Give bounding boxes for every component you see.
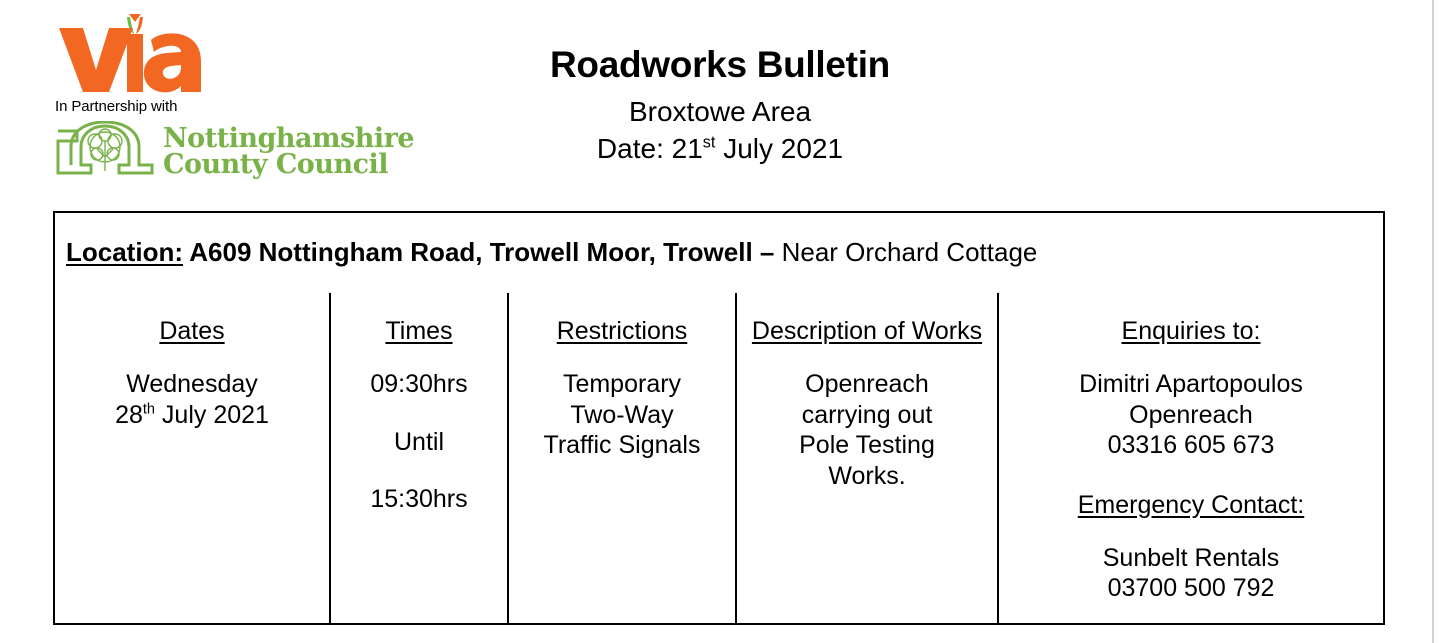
- council-name: Nottinghamshire County Council: [163, 126, 414, 178]
- column-enquiries: Enquiries to: Dimitri Apartopoulos Openr…: [997, 293, 1383, 623]
- restrictions-line-1: Temporary: [509, 369, 735, 400]
- title-block: Roadworks Bulletin Broxtowe Area Date: 2…: [470, 44, 970, 168]
- council-name-line2: County Council: [163, 152, 414, 178]
- column-dates: Dates Wednesday 28th July 2021: [55, 293, 329, 623]
- via-logo: [55, 8, 215, 96]
- table-columns: Dates Wednesday 28th July 2021 Times 09:…: [55, 293, 1383, 623]
- times-spacer-1: [331, 400, 507, 427]
- location-road: A609 Nottingham Road, Trowell Moor, Trow…: [183, 237, 774, 267]
- restrictions-line-3: Traffic Signals: [509, 430, 735, 461]
- emergency-company: Sunbelt Rentals: [999, 543, 1383, 574]
- column-body-times: 09:30hrs Until 15:30hrs: [331, 369, 507, 515]
- times-spacer-2: [331, 457, 507, 484]
- column-header-enquiries: Enquiries to:: [999, 316, 1383, 346]
- partnership-label: In Partnership with: [55, 98, 455, 115]
- column-header-dates: Dates: [55, 316, 329, 346]
- location-detail: Near Orchard Cottage: [774, 237, 1037, 267]
- dates-day-rest: July 2021: [155, 401, 269, 429]
- area-subtitle: Broxtowe Area: [470, 93, 970, 131]
- emergency-details: Sunbelt Rentals 03700 500 792: [999, 543, 1383, 604]
- column-body-description: Openreach carrying out Pole Testing Work…: [737, 369, 997, 491]
- emergency-contact-header: Emergency Contact:: [999, 490, 1383, 520]
- times-end: 15:30hrs: [331, 484, 507, 515]
- date-prefix: Date: 21: [597, 133, 703, 164]
- emergency-phone: 03700 500 792: [999, 573, 1383, 604]
- document-page: In Partnership with: [0, 0, 1434, 643]
- description-line-1: Openreach: [737, 369, 997, 400]
- council-logo: Nottinghamshire County Council: [55, 121, 455, 183]
- column-header-restrictions: Restrictions: [509, 316, 735, 346]
- bulletin-table: Location: A609 Nottingham Road, Trowell …: [53, 211, 1385, 625]
- location-label: Location:: [66, 237, 183, 267]
- column-header-description: Description of Works: [737, 316, 997, 346]
- dates-day-ordinal: th: [143, 401, 155, 417]
- times-until: Until: [331, 427, 507, 458]
- bulletin-date: Date: 21st July 2021: [470, 130, 970, 168]
- dates-line-2: 28th July 2021: [55, 400, 329, 431]
- location-text: Location: A609 Nottingham Road, Trowell …: [66, 237, 1037, 268]
- description-line-4: Works.: [737, 461, 997, 492]
- page-title: Roadworks Bulletin: [470, 44, 970, 87]
- dates-line-1: Wednesday: [55, 369, 329, 400]
- restrictions-line-2: Two-Way: [509, 400, 735, 431]
- dates-day-number: 28: [115, 401, 143, 429]
- branding-block: In Partnership with: [55, 8, 455, 183]
- location-row: Location: A609 Nottingham Road, Trowell …: [55, 213, 1383, 293]
- document-header: In Partnership with: [0, 0, 1432, 205]
- enquiries-contact-name: Dimitri Apartopoulos: [999, 369, 1383, 400]
- council-crest-icon: [55, 121, 155, 183]
- date-ordinal: st: [703, 134, 716, 152]
- column-body-dates: Wednesday 28th July 2021: [55, 369, 329, 430]
- column-body-restrictions: Temporary Two-Way Traffic Signals: [509, 369, 735, 461]
- column-header-times: Times: [331, 316, 507, 346]
- column-restrictions: Restrictions Temporary Two-Way Traffic S…: [507, 293, 735, 623]
- enquiries-phone: 03316 605 673: [999, 430, 1383, 461]
- times-start: 09:30hrs: [331, 369, 507, 400]
- description-line-3: Pole Testing: [737, 430, 997, 461]
- column-body-enquiries: Dimitri Apartopoulos Openreach 03316 605…: [999, 369, 1383, 461]
- column-description: Description of Works Openreach carrying …: [735, 293, 997, 623]
- enquiries-company: Openreach: [999, 400, 1383, 431]
- date-suffix: July 2021: [715, 133, 843, 164]
- description-line-2: carrying out: [737, 400, 997, 431]
- column-times: Times 09:30hrs Until 15:30hrs: [329, 293, 507, 623]
- emergency-block: Emergency Contact:: [999, 490, 1383, 520]
